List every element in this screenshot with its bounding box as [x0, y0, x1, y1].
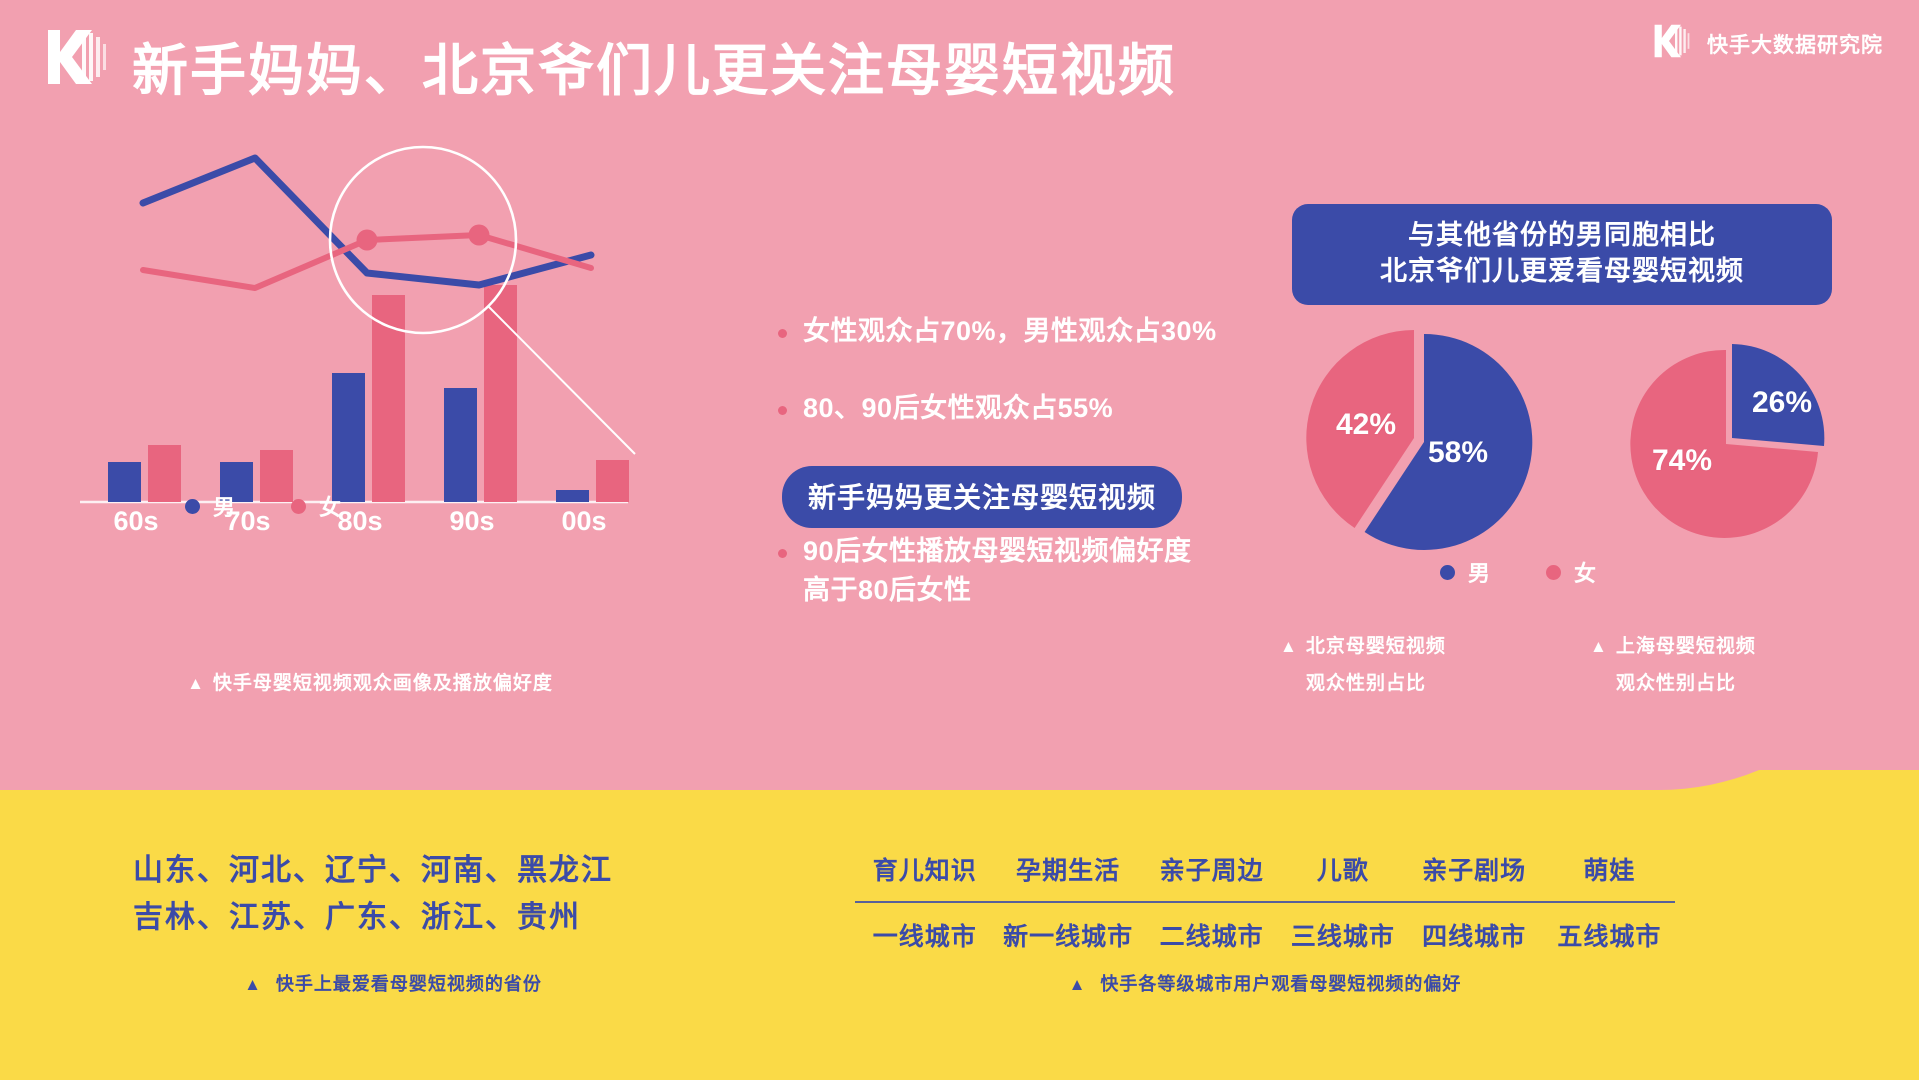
table-header-cell: 萌娃 — [1544, 845, 1675, 899]
provinces-caption-text: 快手上最爱看母婴短视频的省份 — [276, 974, 542, 994]
legend-item-female: 女 — [1546, 556, 1596, 588]
bar-male-00s — [556, 490, 589, 502]
x-tick-80s: 80s — [304, 506, 416, 537]
badge-new-mom: 新手妈妈更关注母婴短视频 — [782, 466, 1182, 528]
pie-value-label-male-beijing: 58% — [1428, 436, 1488, 470]
triangle-bullet-icon: ▲ — [1280, 630, 1298, 663]
bar-group-60s — [108, 445, 181, 502]
x-axis-labels: 60s 70s 80s 90s 00s — [80, 506, 640, 537]
provinces-caption: ▲ 快手上最爱看母婴短视频的省份 — [133, 970, 653, 996]
table-header-cell: 育儿知识 — [855, 845, 994, 899]
pie-chart-shanghai: 26% 74% — [1610, 320, 1850, 560]
combo-chart-caption-text: 快手母婴短视频观众画像及播放偏好度 — [213, 673, 553, 694]
page-title: 新手妈妈、北京爷们儿更关注母婴短视频 — [132, 26, 1176, 107]
pie-value-label-female-shanghai: 74% — [1652, 444, 1712, 478]
pie-caption-beijing-line2: 观众性别占比 — [1280, 665, 1590, 702]
bar-group-00s — [556, 460, 629, 502]
badge-beijing-comparison: 与其他省份的男同胞相比 北京爷们儿更爱看母婴短视频 — [1292, 204, 1832, 305]
pie-caption-shanghai-line2: 观众性别占比 — [1590, 665, 1900, 702]
table-header-cell: 孕期生活 — [994, 845, 1142, 899]
bar-male-60s — [108, 462, 141, 502]
pie-caption-beijing-line1: ▲北京母婴短视频 — [1280, 628, 1590, 665]
pie-caption-shanghai: ▲上海母婴短视频 观众性别占比 — [1590, 628, 1900, 702]
table-cell: 新一线城市 — [994, 911, 1142, 965]
city-table-caption-text: 快手各等级城市用户观看母婴短视频的偏好 — [1100, 974, 1461, 994]
provinces-line-2: 吉林、江苏、广东、浙江、贵州 — [133, 895, 613, 942]
combo-chart-svg — [70, 140, 670, 560]
table-header-cell: 亲子剧场 — [1404, 845, 1543, 899]
table-cell: 二线城市 — [1142, 911, 1281, 965]
bullet-dot-icon — [778, 329, 787, 338]
line-male — [143, 158, 591, 285]
legend-label-female: 女 — [1574, 556, 1596, 588]
provinces-list: 山东、河北、辽宁、河南、黑龙江 吉林、江苏、广东、浙江、贵州 — [133, 848, 613, 941]
header: 新手妈妈、北京爷们儿更关注母婴短视频 快手大数据研究院 — [0, 0, 1919, 120]
bullet-text-1: 女性观众占70%，男性观众占30% — [803, 312, 1217, 351]
table-cell: 五线城市 — [1544, 911, 1675, 965]
line-female-point-90s — [469, 225, 490, 246]
bar-male-80s — [332, 373, 365, 502]
x-tick-00s: 00s — [528, 506, 640, 537]
badge-beijing-line2: 北京爷们儿更爱看母婴短视频 — [1312, 253, 1812, 289]
list-item: 女性观众占70%，男性观众占30% — [778, 312, 1248, 351]
bar-group-80s — [332, 295, 405, 502]
pie-shanghai-svg — [1610, 320, 1850, 560]
pie-caption-beijing: ▲北京母婴短视频 观众性别占比 — [1280, 628, 1590, 702]
bar-group-90s — [444, 285, 517, 502]
triangle-bullet-icon: ▲ — [1069, 975, 1087, 995]
x-tick-90s: 90s — [416, 506, 528, 537]
bar-male-90s — [444, 388, 477, 502]
x-tick-70s: 70s — [192, 506, 304, 537]
line-female-point-80s — [357, 230, 378, 251]
list-item: 80、90后女性观众占55% — [778, 389, 1248, 428]
bar-female-00s — [596, 460, 629, 502]
legend-dot-female-icon — [1546, 565, 1561, 580]
kuaishou-k-logo-icon — [42, 22, 112, 97]
table-cell: 三线城市 — [1281, 911, 1404, 965]
triangle-bullet-icon: ▲ — [187, 674, 205, 694]
table-cell: 一线城市 — [855, 911, 994, 965]
legend-label-male: 男 — [1468, 556, 1490, 588]
triangle-bullet-icon: ▲ — [1590, 630, 1608, 663]
kuaishou-k-logo-icon — [1651, 20, 1693, 67]
pie-chart-legend: 男 女 — [1440, 556, 1596, 588]
combo-chart-caption: ▲快手母婴短视频观众画像及播放偏好度 — [70, 668, 670, 695]
bullet-text-3: 90后女性播放母婴短视频偏好度 高于80后女性 — [803, 532, 1192, 610]
table-header-cell: 儿歌 — [1281, 845, 1404, 899]
bullet-dot-icon — [778, 549, 787, 558]
list-item: 90后女性播放母婴短视频偏好度 高于80后女性 — [778, 532, 1278, 610]
table-cell: 四线城市 — [1404, 911, 1543, 965]
city-table-caption: ▲ 快手各等级城市用户观看母婴短视频的偏好 — [855, 970, 1675, 996]
pie-charts-group: 42% 58% 26% 74% — [1280, 320, 1900, 560]
table-header-row: 育儿知识 孕期生活 亲子周边 儿歌 亲子剧场 萌娃 — [855, 845, 1675, 899]
pie-chart-beijing: 42% 58% — [1300, 320, 1540, 560]
insight-bullet-list: 女性观众占70%，男性观众占30% 80、90后女性观众占55% — [778, 312, 1248, 466]
table-divider — [855, 901, 1675, 903]
legend-dot-male-icon — [1440, 565, 1455, 580]
table-header-cell: 亲子周边 — [1142, 845, 1281, 899]
table-row: 一线城市 新一线城市 二线城市 三线城市 四线城市 五线城市 — [855, 911, 1675, 965]
corp-logo: 快手大数据研究院 — [1651, 20, 1883, 67]
bullet-text-2: 80、90后女性观众占55% — [803, 389, 1113, 428]
bar-female-60s — [148, 445, 181, 502]
pie-caption-shanghai-line1: ▲上海母婴短视频 — [1590, 628, 1900, 665]
city-preference-table: 育儿知识 孕期生活 亲子周边 儿歌 亲子剧场 萌娃 一线城市 新一线城市 二线城… — [855, 845, 1675, 965]
pie-caption-beijing-text1: 北京母婴短视频 — [1306, 636, 1446, 657]
pie-value-label-male-shanghai: 26% — [1752, 386, 1812, 420]
legend-item-male: 男 — [1440, 556, 1490, 588]
pie-caption-shanghai-text1: 上海母婴短视频 — [1616, 636, 1756, 657]
insight-bullet-3: 90后女性播放母婴短视频偏好度 高于80后女性 — [778, 532, 1278, 648]
provinces-line-1: 山东、河北、辽宁、河南、黑龙江 — [133, 848, 613, 895]
corp-logo-label: 快手大数据研究院 — [1707, 29, 1883, 59]
bullet-dot-icon — [778, 406, 787, 415]
x-tick-60s: 60s — [80, 506, 192, 537]
audience-portrait-chart: 男 女 60s 70s 80s 90s 00s ▲快手母婴短视频观众画像及播放偏… — [70, 140, 670, 700]
triangle-bullet-icon: ▲ — [244, 975, 262, 995]
pie-captions: ▲北京母婴短视频 观众性别占比 ▲上海母婴短视频 观众性别占比 — [1280, 628, 1900, 702]
pie-value-label-female-beijing: 42% — [1336, 408, 1396, 442]
badge-beijing-line1: 与其他省份的男同胞相比 — [1312, 217, 1812, 253]
